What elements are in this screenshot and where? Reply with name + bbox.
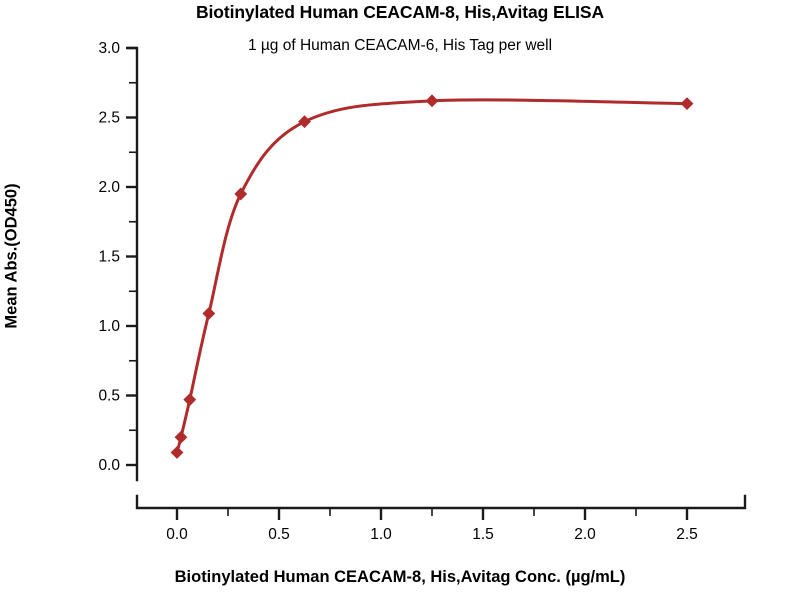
axis-spines: [128, 48, 745, 508]
chart-figure: Biotinylated Human CEACAM-8, His,Avitag …: [0, 0, 800, 600]
y-tick-label: 2.5: [98, 110, 120, 127]
y-axis-ticks: 0.00.51.01.52.02.53.0: [98, 40, 137, 474]
data-point-marker: [426, 94, 439, 107]
data-series: [171, 94, 694, 458]
x-tick-label: 1.0: [370, 526, 392, 543]
x-tick-label: 1.5: [472, 526, 494, 543]
y-tick-label: 1.5: [98, 249, 120, 266]
data-point-marker: [298, 115, 311, 128]
data-point-marker: [183, 393, 196, 406]
y-tick-label: 1.0: [98, 318, 120, 335]
x-tick-label: 2.5: [676, 526, 698, 543]
data-point-marker: [681, 97, 694, 110]
y-tick-label: 0.0: [98, 457, 120, 474]
y-tick-label: 3.0: [98, 40, 120, 57]
data-point-marker: [234, 188, 247, 201]
data-point-marker: [171, 446, 184, 459]
x-axis-ticks: 0.00.51.01.52.02.5: [166, 508, 698, 543]
x-tick-label: 2.0: [574, 526, 596, 543]
data-point-marker: [175, 431, 188, 444]
data-point-marker: [202, 307, 215, 320]
y-tick-label: 0.5: [98, 388, 120, 405]
x-tick-label: 0.0: [166, 526, 188, 543]
plot-area: 0.00.51.01.52.02.53.0 0.00.51.01.52.02.5: [0, 0, 800, 600]
y-tick-label: 2.0: [98, 179, 120, 196]
series-line: [177, 100, 687, 453]
x-tick-label: 0.5: [268, 526, 290, 543]
